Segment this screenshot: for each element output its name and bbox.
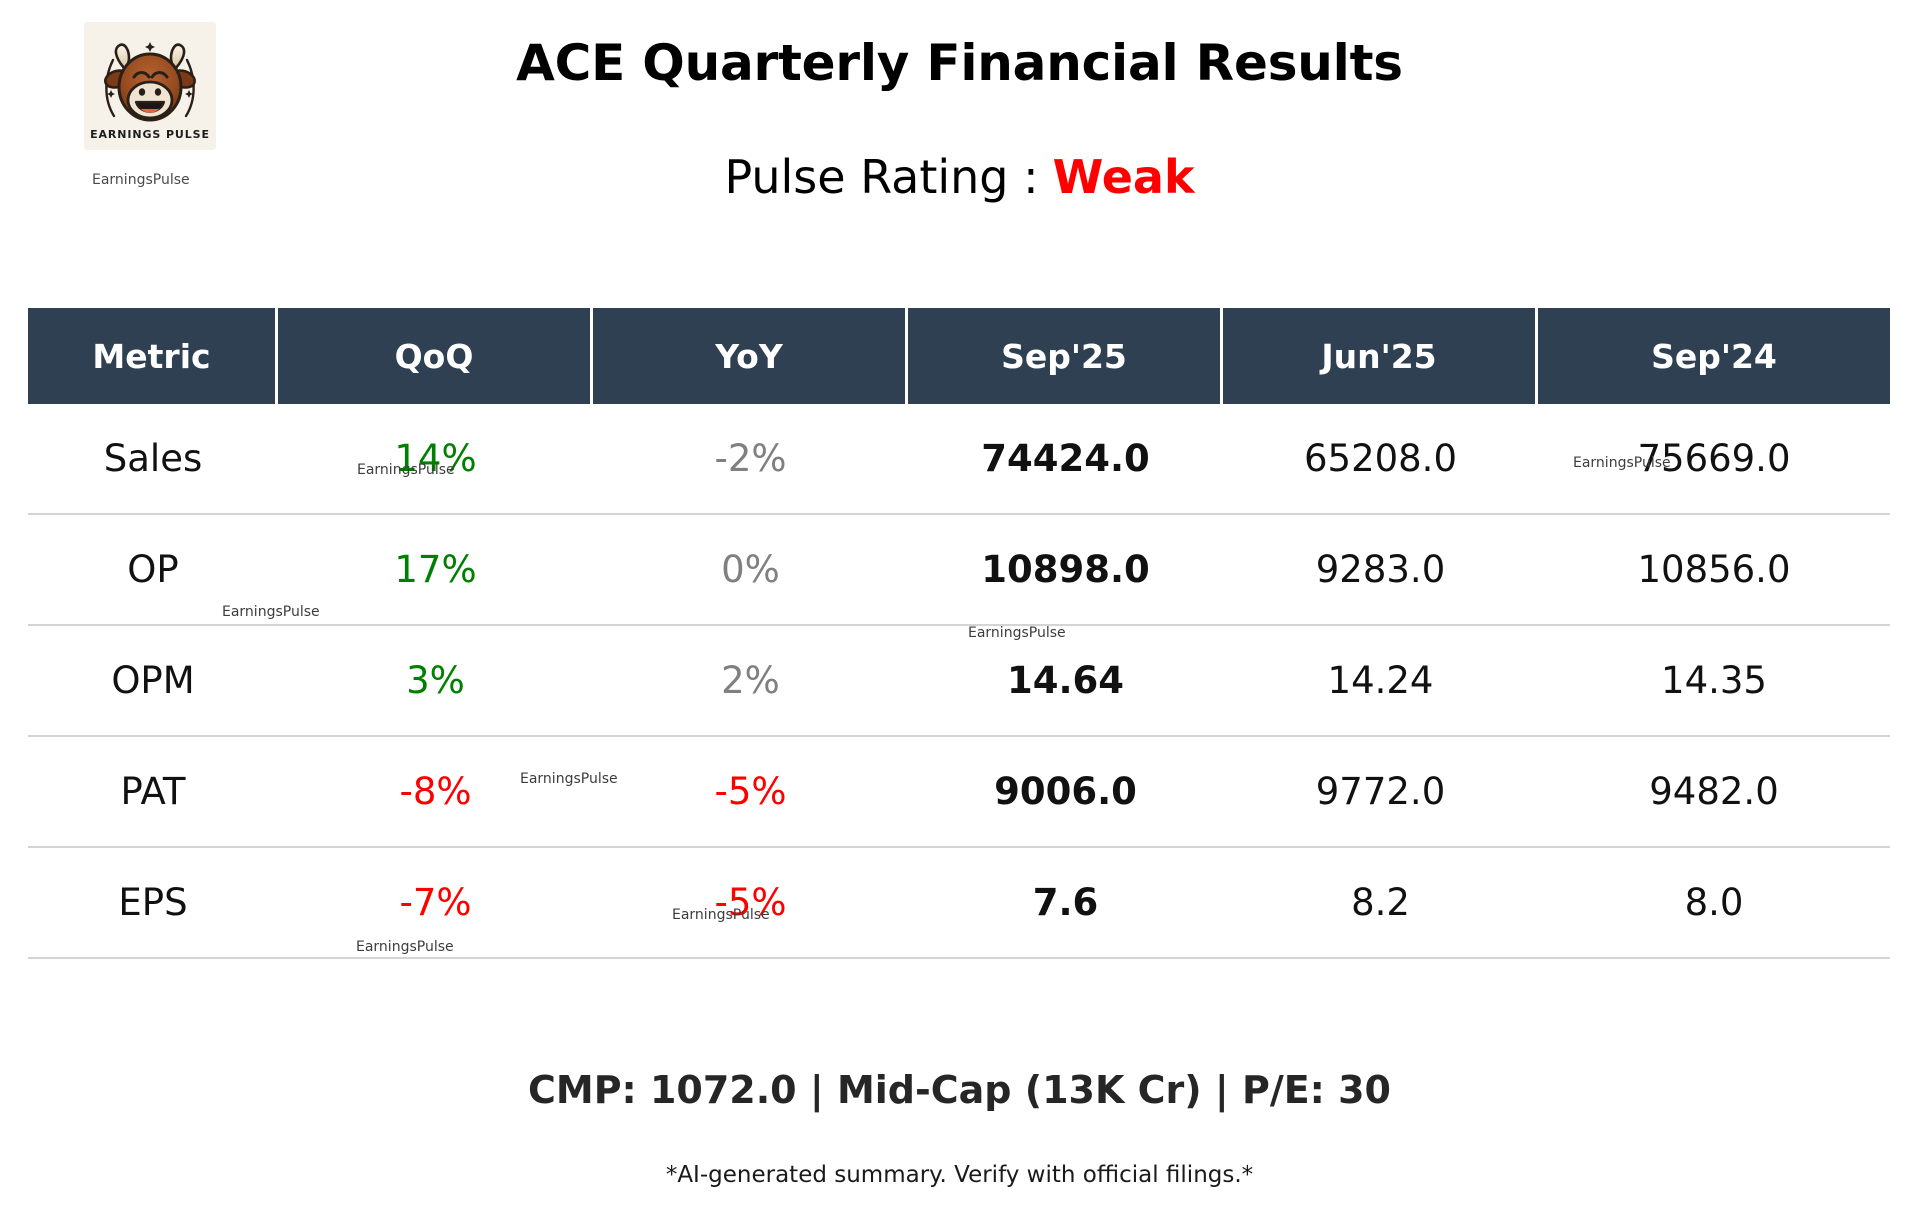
cell-jun25: 9283.0: [1223, 515, 1538, 624]
cmp-summary-line: CMP: 1072.0 | Mid-Cap (13K Cr) | P/E: 30: [0, 1068, 1919, 1112]
column-header-metric: Metric: [28, 308, 278, 404]
cell-yoy: -5%: [593, 848, 908, 957]
cell-qoq: 17%: [278, 515, 593, 624]
table-row: OPM 3% 2% 14.64 14.24 14.35: [28, 626, 1890, 737]
cell-jun25: 9772.0: [1223, 737, 1538, 846]
cell-sep25: 74424.0: [908, 404, 1223, 513]
cell-sep24: 14.35: [1538, 626, 1890, 735]
table-row: OP 17% 0% 10898.0 9283.0 10856.0: [28, 515, 1890, 626]
cell-yoy: 0%: [593, 515, 908, 624]
column-header-yoy: YoY: [593, 308, 908, 404]
column-header-jun25: Jun'25: [1223, 308, 1538, 404]
column-header-sep25: Sep'25: [908, 308, 1223, 404]
cell-metric: EPS: [28, 848, 278, 957]
cell-sep24: 75669.0: [1538, 404, 1890, 513]
cell-sep24: 9482.0: [1538, 737, 1890, 846]
table-header-row: Metric QoQ YoY Sep'25 Jun'25 Sep'24: [28, 308, 1890, 404]
table-row: EPS -7% -5% 7.6 8.2 8.0: [28, 848, 1890, 959]
cell-yoy: 2%: [593, 626, 908, 735]
cell-qoq: 14%: [278, 404, 593, 513]
disclaimer-text: *AI-generated summary. Verify with offic…: [0, 1162, 1919, 1188]
cell-yoy: -2%: [593, 404, 908, 513]
table-row: PAT -8% -5% 9006.0 9772.0 9482.0: [28, 737, 1890, 848]
column-header-sep24: Sep'24: [1538, 308, 1890, 404]
cell-qoq: 3%: [278, 626, 593, 735]
logo-caption: EARNINGS PULSE: [84, 128, 216, 141]
cell-jun25: 14.24: [1223, 626, 1538, 735]
column-header-qoq: QoQ: [278, 308, 593, 404]
cell-metric: Sales: [28, 404, 278, 513]
cell-sep25: 10898.0: [908, 515, 1223, 624]
cell-yoy: -5%: [593, 737, 908, 846]
cell-sep24: 8.0: [1538, 848, 1890, 957]
pulse-rating-label: Pulse Rating :: [724, 150, 1038, 204]
cell-sep25: 14.64: [908, 626, 1223, 735]
cell-sep25: 9006.0: [908, 737, 1223, 846]
cell-sep24: 10856.0: [1538, 515, 1890, 624]
pulse-rating: Pulse Rating :Weak: [0, 150, 1919, 204]
cell-qoq: -8%: [278, 737, 593, 846]
cell-qoq: -7%: [278, 848, 593, 957]
cell-metric: OPM: [28, 626, 278, 735]
table-row: Sales 14% -2% 74424.0 65208.0 75669.0: [28, 404, 1890, 515]
cell-jun25: 8.2: [1223, 848, 1538, 957]
cell-metric: OP: [28, 515, 278, 624]
cell-jun25: 65208.0: [1223, 404, 1538, 513]
cell-sep25: 7.6: [908, 848, 1223, 957]
cell-metric: PAT: [28, 737, 278, 846]
pulse-rating-value: Weak: [1053, 150, 1195, 204]
financial-results-table: Metric QoQ YoY Sep'25 Jun'25 Sep'24 Sale…: [28, 308, 1890, 959]
page-title: ACE Quarterly Financial Results: [0, 34, 1919, 92]
